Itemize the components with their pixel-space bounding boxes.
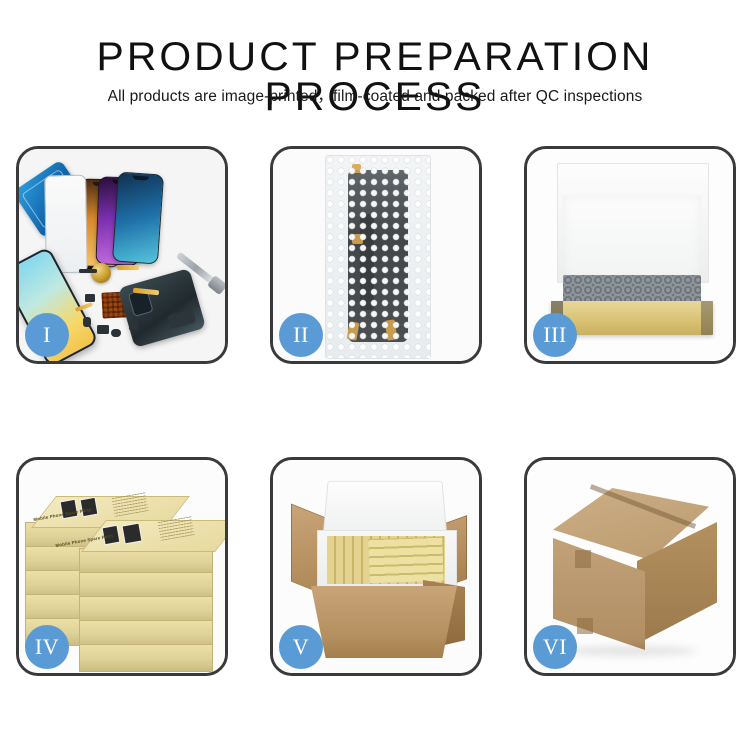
small-part-icon [83,317,91,327]
stacked-box [79,644,213,672]
carton-front-icon [311,586,457,658]
step-badge-4: IV [25,625,69,669]
step-card-2[interactable]: II [270,146,482,364]
step-badge-1: I [25,313,69,357]
step-card-6[interactable]: VI [524,457,736,676]
packed-boxes-icon [368,537,443,584]
small-part-icon [129,321,138,330]
bubble-texture [326,156,430,358]
step-badge-5: V [279,625,323,669]
printed-screen-image [121,523,142,545]
drop-shadow [561,646,697,656]
step-badge-2: II [279,313,323,357]
step-card-1[interactable]: I [16,146,228,364]
phone-blue-icon [112,172,164,265]
foam-sheet-icon [563,195,701,281]
small-part-icon [85,294,95,302]
step-card-5[interactable]: V [270,457,482,676]
tape-patch-icon [577,618,593,634]
flex-cable-icon [117,265,139,270]
product-preparation-infographic: PRODUCT PREPARATION PROCESS All products… [0,0,750,750]
step-badge-3: III [533,313,577,357]
small-part-icon [97,325,109,334]
small-part-icon [111,329,121,337]
small-part-icon [79,269,97,273]
bubble-wrap-bag-icon [325,155,431,359]
tape-patch-icon [575,550,591,568]
step-badge-6: VI [533,625,577,669]
coil-part-icon [91,263,111,283]
phone-back-housing-icon [118,268,206,348]
step-card-3[interactable]: III [524,146,736,364]
step-card-4[interactable]: Mobile Phone Spare Parts Mobile Phone Sp… [16,457,228,676]
steps-grid: I II III [0,0,750,750]
